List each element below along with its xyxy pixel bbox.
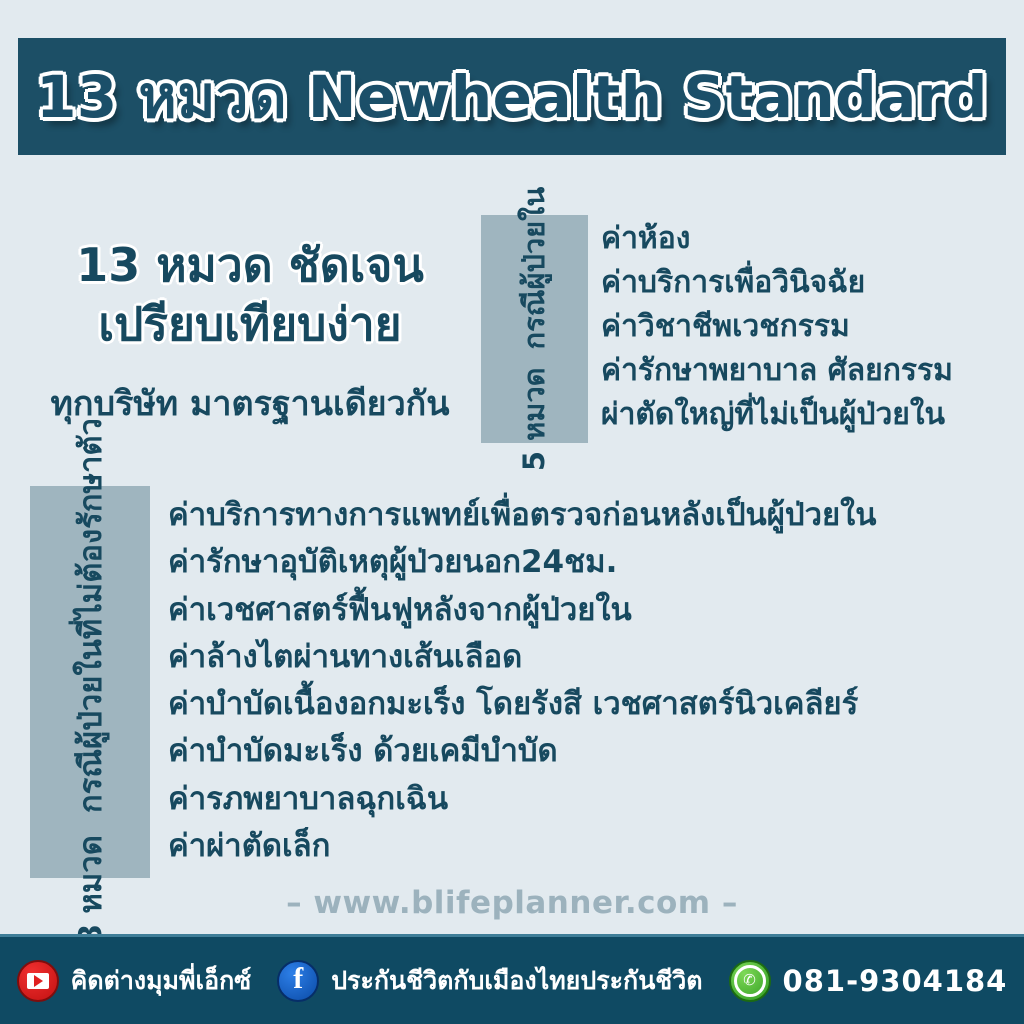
headline-block: 13 หมวด ชัดเจน เปรียบเทียบง่าย ทุกบริษัท… [30, 236, 470, 430]
header-bar: 13 หมวด Newhealth Standard [18, 38, 1006, 155]
list-upper-5-categories: ค่าห้อง ค่าบริการเพื่อวินิจฉัย ค่าวิชาชี… [601, 217, 1021, 437]
footer-youtube-group[interactable]: คิดต่างมุมพี่เอ็กซ์ [17, 960, 252, 1002]
youtube-channel-label: คิดต่างมุมพี่เอ็กซ์ [71, 961, 252, 1001]
side-label-5-categories: 5 หมวด กรณีผู้ป่วยใน [481, 215, 588, 443]
list-item: ค่ารภพยาบาลฉุกเฉิน [168, 776, 1018, 823]
list-item: ค่าบริการเพื่อวินิจฉัย [601, 261, 1021, 305]
headline-line-1: 13 หมวด ชัดเจน [30, 236, 470, 295]
footer-facebook-group[interactable]: f ประกันชีวิตกับเมืองไทยประกันชีวิต [277, 960, 702, 1002]
side-label-5-scope: กรณีผู้ป่วยใน [512, 187, 558, 350]
list-item: ค่าบริการทางการแพทย์เพื่อตรวจก่อนหลังเป็… [168, 492, 1018, 539]
phone-number: 081-9304184 [783, 964, 1008, 998]
list-item: ผ่าตัดใหญ่ที่ไม่เป็นผู้ป่วยใน [601, 393, 1021, 437]
list-item: ค่าวิชาชีพเวชกรรม [601, 305, 1021, 349]
youtube-icon[interactable] [17, 960, 59, 1002]
list-item: ค่าล้างไตผ่านทางเส้นเลือด [168, 634, 1018, 681]
side-label-8-scope: กรณีผู้ป่วยในที่ไม่ต้องรักษาตัว [65, 418, 115, 813]
list-item: ค่าบำบัดมะเร็ง ด้วยเคมีบำบัด [168, 728, 1018, 775]
list-item: ค่าเวชศาสตร์ฟื้นฟูหลังจากผู้ป่วยใน [168, 587, 1018, 634]
facebook-page-label: ประกันชีวิตกับเมืองไทยประกันชีวิต [331, 961, 702, 1001]
list-item: ค่าผ่าตัดเล็ก [168, 823, 1018, 870]
side-label-8-categories: 8 หมวด กรณีผู้ป่วยในที่ไม่ต้องรักษาตัว [30, 486, 150, 878]
headline-line-2: เปรียบเทียบง่าย [30, 295, 470, 354]
facebook-icon[interactable]: f [277, 960, 319, 1002]
side-label-5-count: 5 หมวด [512, 368, 558, 472]
list-item: ค่าบำบัดเนื้องอกมะเร็ง โดยรังสี เวชศาสตร… [168, 681, 1018, 728]
page-title: 13 หมวด Newhealth Standard [36, 50, 988, 143]
whatsapp-icon[interactable]: ✆ [729, 960, 771, 1002]
list-item: ค่ารักษาพยาบาล ศัลยกรรม [601, 349, 1021, 393]
list-item: ค่าห้อง [601, 217, 1021, 261]
list-item: ค่ารักษาอุบัติเหตุผู้ป่วยนอก24ชม. [168, 539, 1018, 586]
footer-bar: คิดต่างมุมพี่เอ็กซ์ f ประกันชีวิตกับเมือ… [0, 934, 1024, 1024]
footer-phone-group[interactable]: ✆ 081-9304184 [729, 960, 1008, 1002]
website-url[interactable]: – www.blifeplanner.com – [0, 885, 1024, 921]
list-lower-8-categories: ค่าบริการทางการแพทย์เพื่อตรวจก่อนหลังเป็… [168, 492, 1018, 870]
